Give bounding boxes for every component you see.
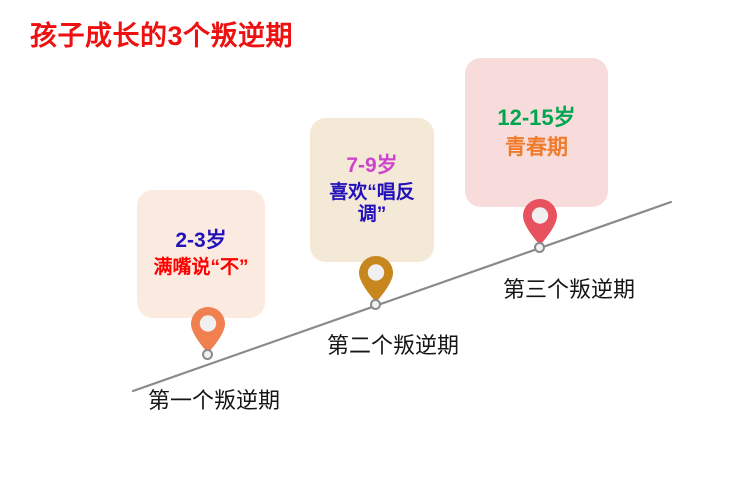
stage-age-1: 2-3岁 [175,229,226,253]
timeline-node-2[interactable] [370,299,381,310]
stage-description-1: 满嘴说“不” [153,257,248,279]
stage-description-2: 喜欢“唱反调” [326,182,418,226]
infographic-canvas: 孩子成长的3个叛逆期 2-3岁 满嘴说“不” 第一个叛逆期 7-9岁 喜欢“唱反… [0,0,750,497]
stage-card-2[interactable]: 7-9岁 喜欢“唱反调” [310,118,434,262]
stage-label-1: 第一个叛逆期 [148,383,280,415]
stage-card-1[interactable]: 2-3岁 满嘴说“不” [137,190,265,318]
map-pin-icon-1[interactable] [189,305,227,355]
stage-card-3[interactable]: 12-15岁 青春期 [465,58,608,207]
stage-description-3: 青春期 [505,136,568,160]
stage-label-3: 第三个叛逆期 [503,272,635,304]
stage-age-3: 12-15岁 [497,105,575,130]
timeline-node-3[interactable] [534,242,545,253]
map-pin-icon-3[interactable] [521,197,559,247]
stage-age-2: 7-9岁 [346,154,397,178]
map-pin-icon-2[interactable] [357,254,395,304]
stage-label-2: 第二个叛逆期 [327,328,459,360]
timeline-node-1[interactable] [202,349,213,360]
